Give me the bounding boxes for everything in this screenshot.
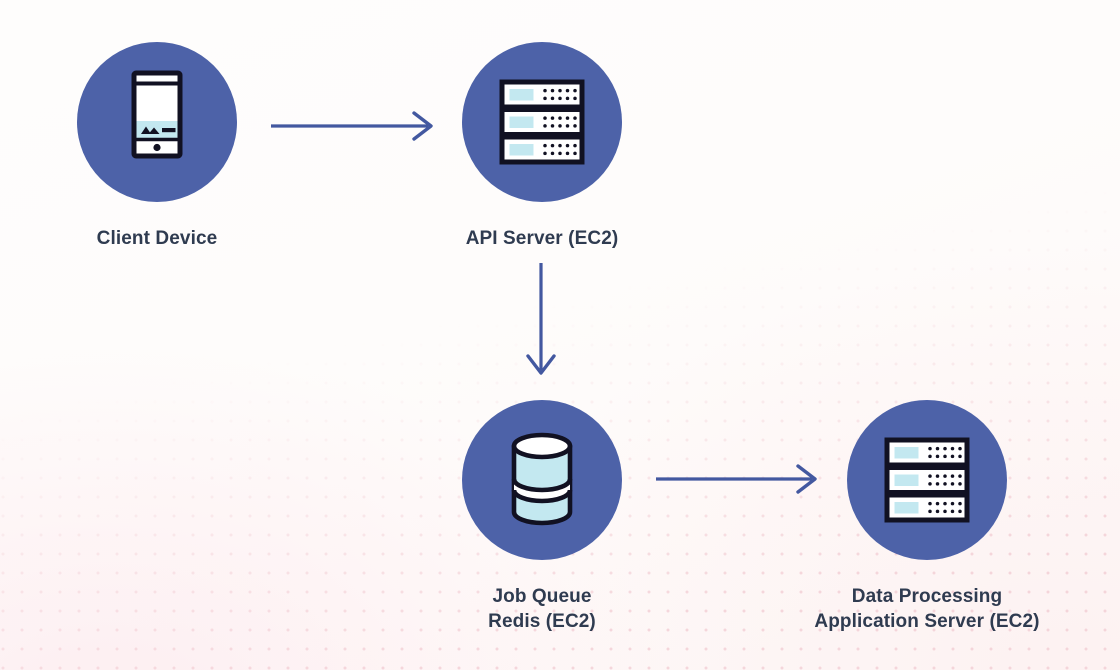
- arrow-queue-to-processing: [656, 466, 815, 492]
- node-label-api-server: API Server (EC2): [392, 226, 692, 251]
- mobile-phone-icon: [77, 42, 237, 202]
- node-label-job-queue: Job Queue Redis (EC2): [392, 584, 692, 634]
- node-data-processing[interactable]: [847, 400, 1007, 560]
- node-job-queue[interactable]: [462, 400, 622, 560]
- arrow-api-to-queue: [528, 263, 554, 373]
- node-client-device[interactable]: [77, 42, 237, 202]
- server-rack-icon: [462, 42, 622, 202]
- node-label-data-processing: Data Processing Application Server (EC2): [777, 584, 1077, 634]
- arrow-client-to-api: [271, 113, 431, 139]
- server-rack-icon: [847, 400, 1007, 560]
- database-cylinder-icon: [462, 400, 622, 560]
- architecture-diagram: Client Device: [0, 0, 1120, 670]
- node-api-server[interactable]: [462, 42, 622, 202]
- node-label-client-device: Client Device: [7, 226, 307, 251]
